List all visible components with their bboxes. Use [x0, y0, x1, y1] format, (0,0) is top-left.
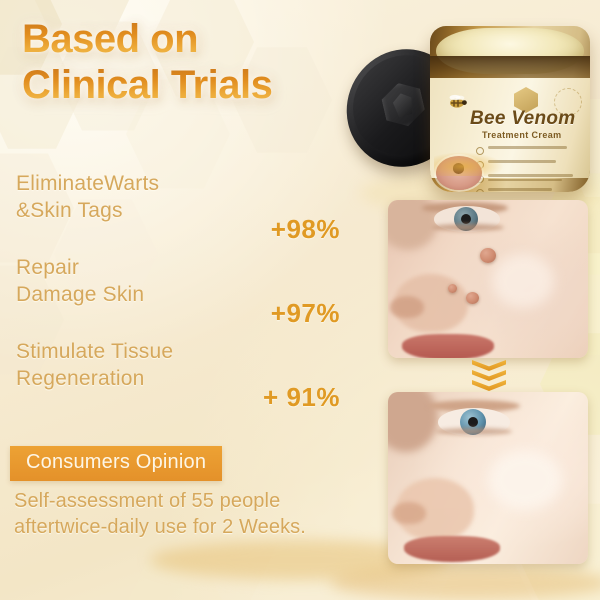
bullet-dot-icon	[476, 189, 484, 192]
wart-blemish	[480, 248, 496, 263]
lips	[402, 334, 494, 358]
benefit-row: Stimulate Tissue Regeneration + 91%	[16, 338, 356, 422]
advertisement-canvas: Based on Clinical Trials	[0, 0, 600, 600]
headline-line-2: Clinical Trials	[22, 62, 372, 108]
wart-blemish	[466, 292, 479, 304]
jar-neck	[430, 56, 590, 80]
bee-icon	[442, 94, 468, 110]
benefit-label: Stimulate Tissue Regeneration	[16, 338, 231, 392]
benefit-percent: + 91%	[263, 382, 340, 413]
benefit-label-line-2: Regeneration	[16, 365, 231, 392]
benefit-label-line-1: EliminateWarts	[16, 170, 231, 197]
honeycomb-illustration	[434, 152, 504, 176]
benefits-list: EliminateWarts &Skin Tags +98% Repair Da…	[16, 170, 356, 422]
benefit-row: Repair Damage Skin +97%	[16, 254, 356, 338]
honey-drizzle-2	[330, 566, 600, 600]
benefit-row: EliminateWarts &Skin Tags +98%	[16, 170, 356, 254]
before-photo	[388, 200, 588, 358]
benefit-label-line-1: Repair	[16, 254, 231, 281]
consumers-opinion-description: Self-assessment of 55 people aftertwice-…	[14, 488, 354, 540]
jar-body: Bee Venom Treatment Cream	[430, 26, 590, 192]
pupil	[461, 214, 471, 224]
headline-line-1: Based on	[22, 16, 372, 62]
benefit-percent: +98%	[271, 214, 340, 245]
benefit-percent: +97%	[271, 298, 340, 329]
pupil	[468, 417, 478, 427]
jar-label: Bee Venom Treatment Cream	[430, 78, 590, 178]
benefit-label: EliminateWarts &Skin Tags	[16, 170, 231, 224]
page-title: Based on Clinical Trials	[22, 16, 372, 108]
bullet-text	[488, 146, 580, 151]
benefit-label: Repair Damage Skin	[16, 254, 231, 308]
clear-skin-highlight	[488, 450, 562, 510]
label-feature-item	[476, 188, 580, 192]
benefit-label-line-2: Damage Skin	[16, 281, 231, 308]
cream-applied-area	[492, 254, 554, 308]
nostril	[392, 502, 426, 524]
product-subtitle: Treatment Cream	[482, 130, 562, 140]
consumers-opinion-banner: Consumers Opinion	[10, 446, 222, 481]
product-brand: Bee Venom	[470, 108, 575, 130]
bullet-text	[488, 188, 580, 192]
lips	[404, 536, 500, 562]
benefit-label-line-1: Stimulate Tissue	[16, 338, 231, 365]
wart-blemish	[448, 284, 457, 293]
after-photo	[388, 392, 588, 564]
lower-lash	[432, 224, 504, 231]
benefit-label-line-2: &Skin Tags	[16, 197, 231, 224]
nostril	[390, 296, 424, 318]
chevron-down-arrows-icon	[472, 360, 506, 390]
lower-lash	[436, 428, 512, 435]
